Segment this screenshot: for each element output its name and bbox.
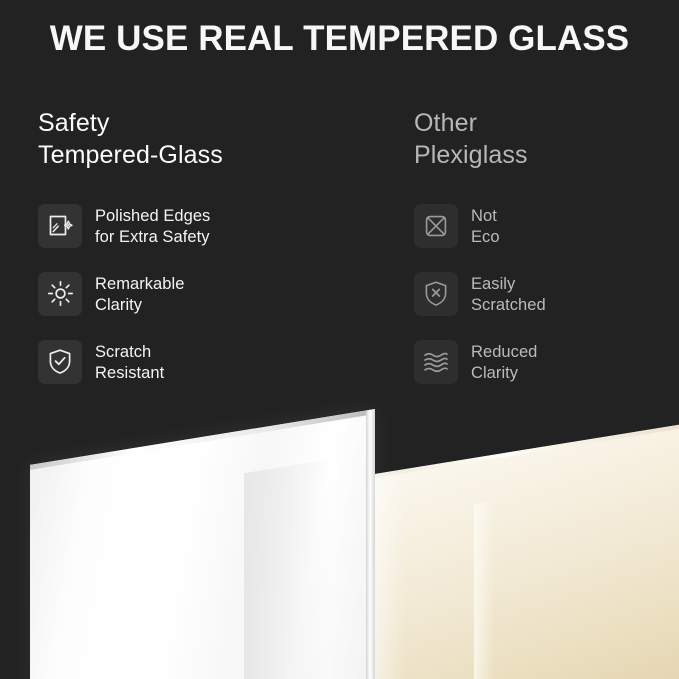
- feature-text-line1: Reduced: [471, 343, 537, 361]
- tempered-glass-panel: [30, 409, 375, 679]
- column-title-right-line2: Plexiglass: [414, 141, 528, 169]
- column-tempered-glass: Safety Tempered-Glass Polished Edges for: [38, 108, 368, 408]
- column-title-left-line1: Safety: [38, 109, 109, 137]
- feature-list-right: Not Eco Easily Scratched: [414, 204, 676, 385]
- feature-text-line1: Not: [471, 207, 497, 225]
- product-comparison-infographic: WE USE REAL TEMPERED GLASS Safety Temper…: [0, 0, 679, 679]
- column-title-left-line2: Tempered-Glass: [38, 141, 223, 169]
- sun-clarity-icon: [38, 272, 82, 316]
- shield-x-icon: [414, 272, 458, 316]
- column-title-right: Other Plexiglass: [414, 108, 676, 172]
- feature-text: Easily Scratched: [471, 272, 546, 318]
- wavy-lines-distortion-icon: [414, 340, 458, 384]
- feature-text-line1: Polished Edges: [95, 207, 210, 225]
- feature-row: Scratch Resistant: [38, 340, 368, 385]
- column-title-left: Safety Tempered-Glass: [38, 108, 368, 172]
- plexi-reflection: [474, 501, 494, 679]
- feature-text-line1: Scratch: [95, 343, 151, 361]
- square-x-not-eco-icon: [414, 204, 458, 248]
- column-plexiglass: Other Plexiglass Not Eco: [414, 108, 676, 408]
- feature-text: Polished Edges for Extra Safety: [95, 204, 210, 250]
- plexi-top-edge: [372, 421, 679, 478]
- feature-text: Scratch Resistant: [95, 340, 164, 386]
- product-photo: [0, 398, 679, 679]
- feature-text-line2: Resistant: [95, 363, 164, 385]
- polished-glass-panel-sparkle-icon: [38, 204, 82, 248]
- plexi-sheen: [372, 469, 405, 679]
- page-title: WE USE REAL TEMPERED GLASS: [0, 20, 679, 59]
- glass-polished-edge: [366, 409, 375, 679]
- shield-check-icon: [38, 340, 82, 384]
- feature-text: Reduced Clarity: [471, 340, 537, 386]
- feature-text-line2: Eco: [471, 227, 500, 249]
- feature-text-line2: for Extra Safety: [95, 227, 210, 249]
- feature-row: Easily Scratched: [414, 272, 676, 317]
- feature-text-line2: Clarity: [95, 295, 184, 317]
- feature-text-line1: Remarkable: [95, 275, 184, 293]
- feature-row: Polished Edges for Extra Safety: [38, 204, 368, 249]
- feature-text-line2: Clarity: [471, 363, 537, 385]
- column-title-right-line1: Other: [414, 109, 477, 137]
- feature-row: Remarkable Clarity: [38, 272, 368, 317]
- feature-text-line1: Easily: [471, 275, 515, 293]
- feature-text-line2: Scratched: [471, 295, 546, 317]
- yellowed-plexiglass-panel: [372, 421, 679, 679]
- feature-row: Not Eco: [414, 204, 676, 249]
- feature-text: Not Eco: [471, 204, 500, 250]
- feature-list-left: Polished Edges for Extra Safety: [38, 204, 368, 385]
- feature-row: Reduced Clarity: [414, 340, 676, 385]
- glass-reflection: [244, 459, 330, 679]
- feature-text: Remarkable Clarity: [95, 272, 184, 318]
